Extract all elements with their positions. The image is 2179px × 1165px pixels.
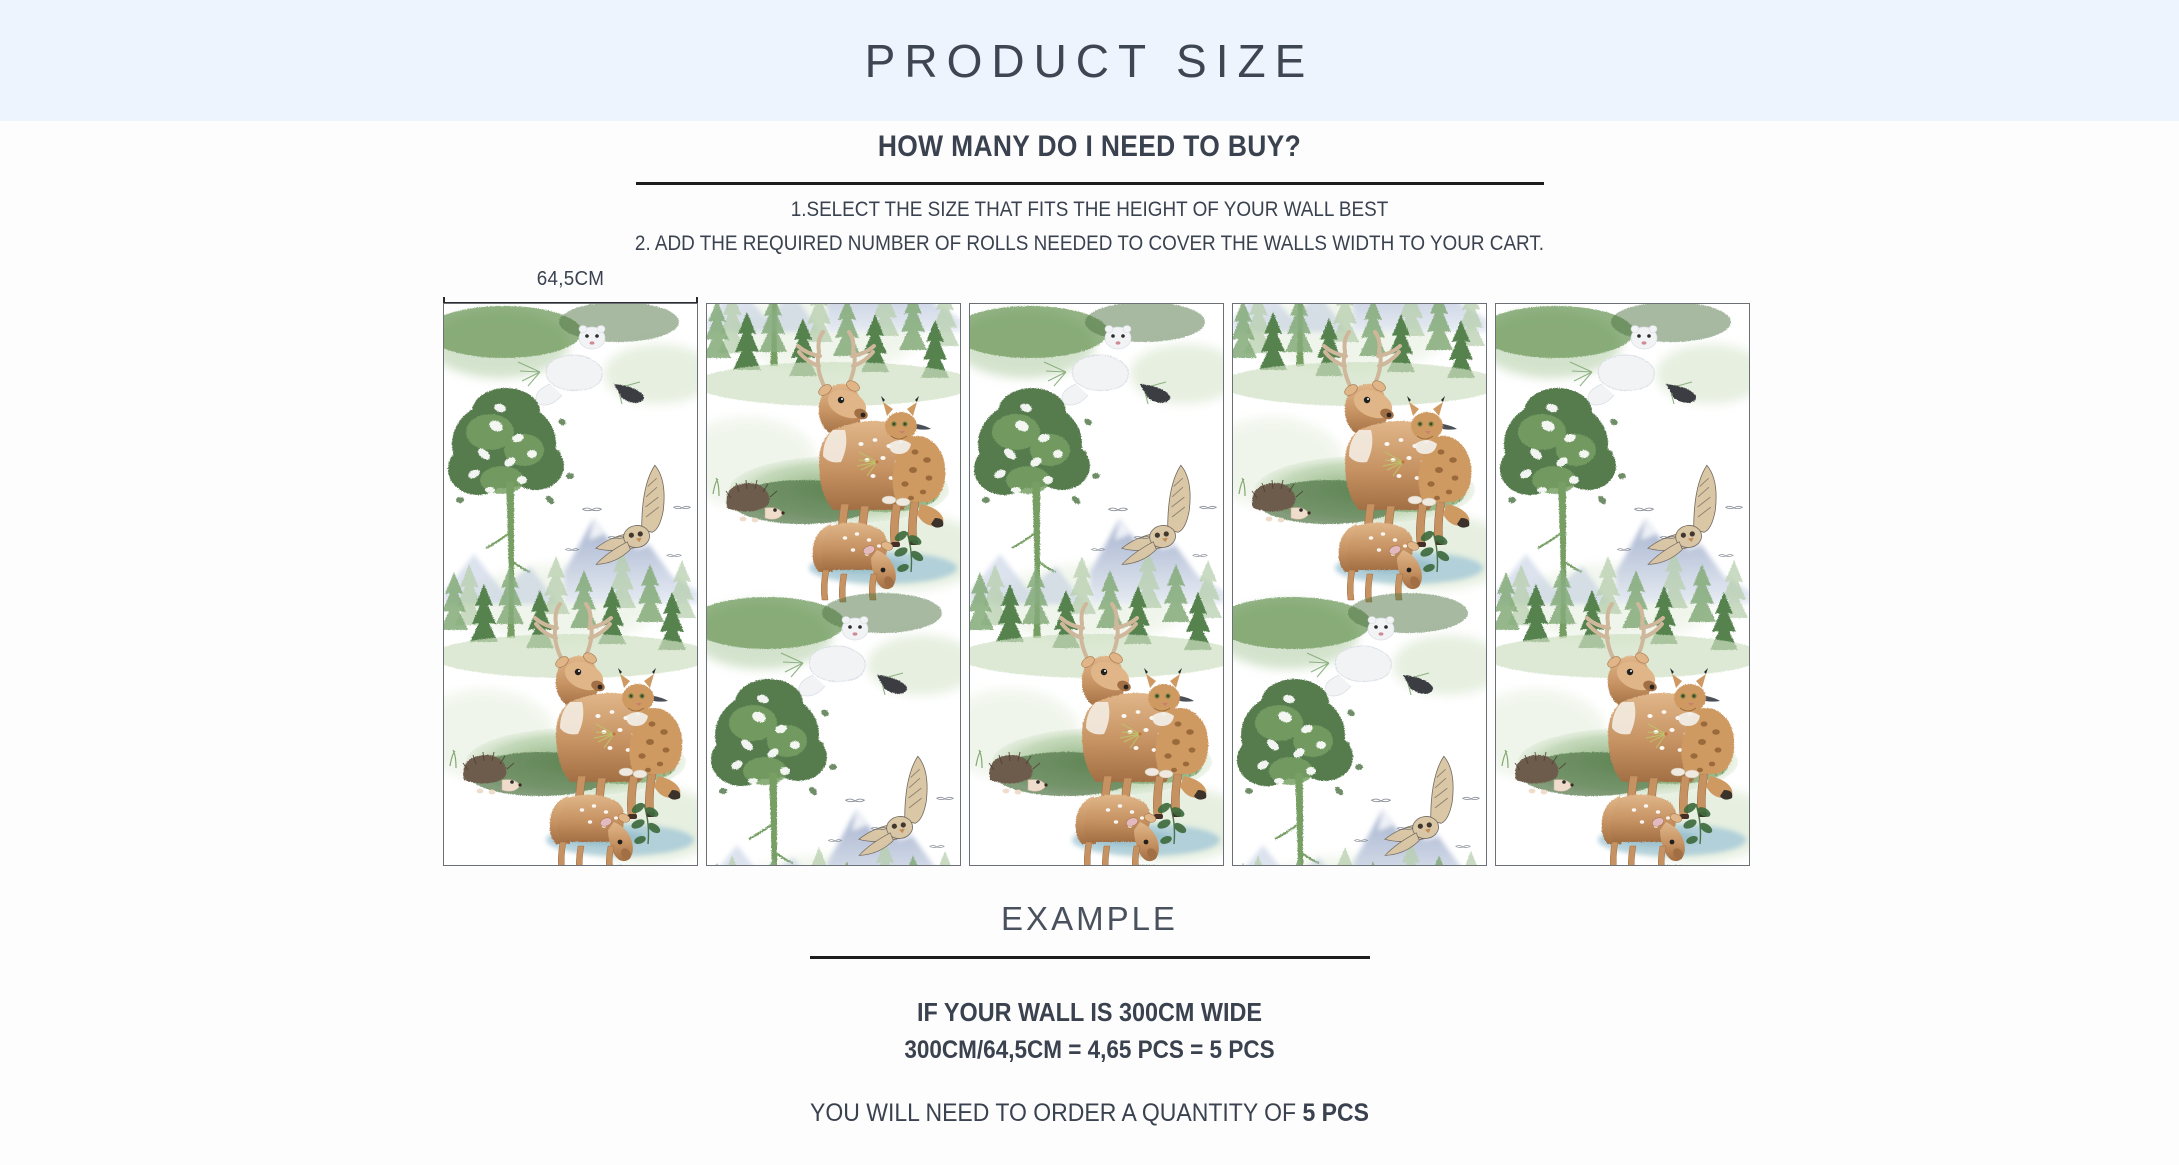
wallpaper-panel[interactable] <box>1495 303 1750 866</box>
example-section: EXAMPLE IF YOUR WALL IS 300CM WIDE 300CM… <box>0 900 2179 1128</box>
instructions-title: HOW MANY DO I NEED TO BUY? <box>131 130 2049 164</box>
page-title: PRODUCT SIZE <box>865 34 1315 88</box>
example-calculation: 300CM/64,5CM = 4,65 PCS = 5 PCS <box>109 1036 2070 1065</box>
example-wall-width: IF YOUR WALL IS 300CM WIDE <box>109 997 2070 1028</box>
wallpaper-panel[interactable] <box>969 303 1224 866</box>
wallpaper-pattern-art <box>970 304 1224 866</box>
wallpaper-panel[interactable] <box>443 303 698 866</box>
wallpaper-panel[interactable] <box>706 303 961 866</box>
example-order-amount: 5 PCS <box>1302 1099 1368 1127</box>
page-header: PRODUCT SIZE <box>0 0 2179 121</box>
wallpaper-pattern-art <box>1233 303 1487 866</box>
example-title: EXAMPLE <box>0 900 2179 938</box>
example-divider <box>810 956 1370 959</box>
instruction-step-2: 2. ADD THE REQUIRED NUMBER OF ROLLS NEED… <box>109 232 2070 256</box>
example-order-prefix: YOU WILL NEED TO ORDER A QUANTITY OF <box>810 1099 1302 1127</box>
example-order-quantity: YOU WILL NEED TO ORDER A QUANTITY OF 5 P… <box>87 1099 2092 1128</box>
instruction-step-1: 1.SELECT THE SIZE THAT FITS THE HEIGHT O… <box>109 198 2070 222</box>
instructions-divider <box>636 182 1544 185</box>
instructions-section: HOW MANY DO I NEED TO BUY? 1.SELECT THE … <box>0 130 2179 256</box>
wallpaper-pattern-art <box>444 304 698 866</box>
wallpaper-pattern-art <box>1496 304 1750 866</box>
roll-width-label: 64,5CM <box>451 268 691 291</box>
wallpaper-pattern-art <box>707 303 961 866</box>
wallpaper-panel-strip <box>443 303 1733 866</box>
wallpaper-panel[interactable] <box>1232 303 1487 866</box>
